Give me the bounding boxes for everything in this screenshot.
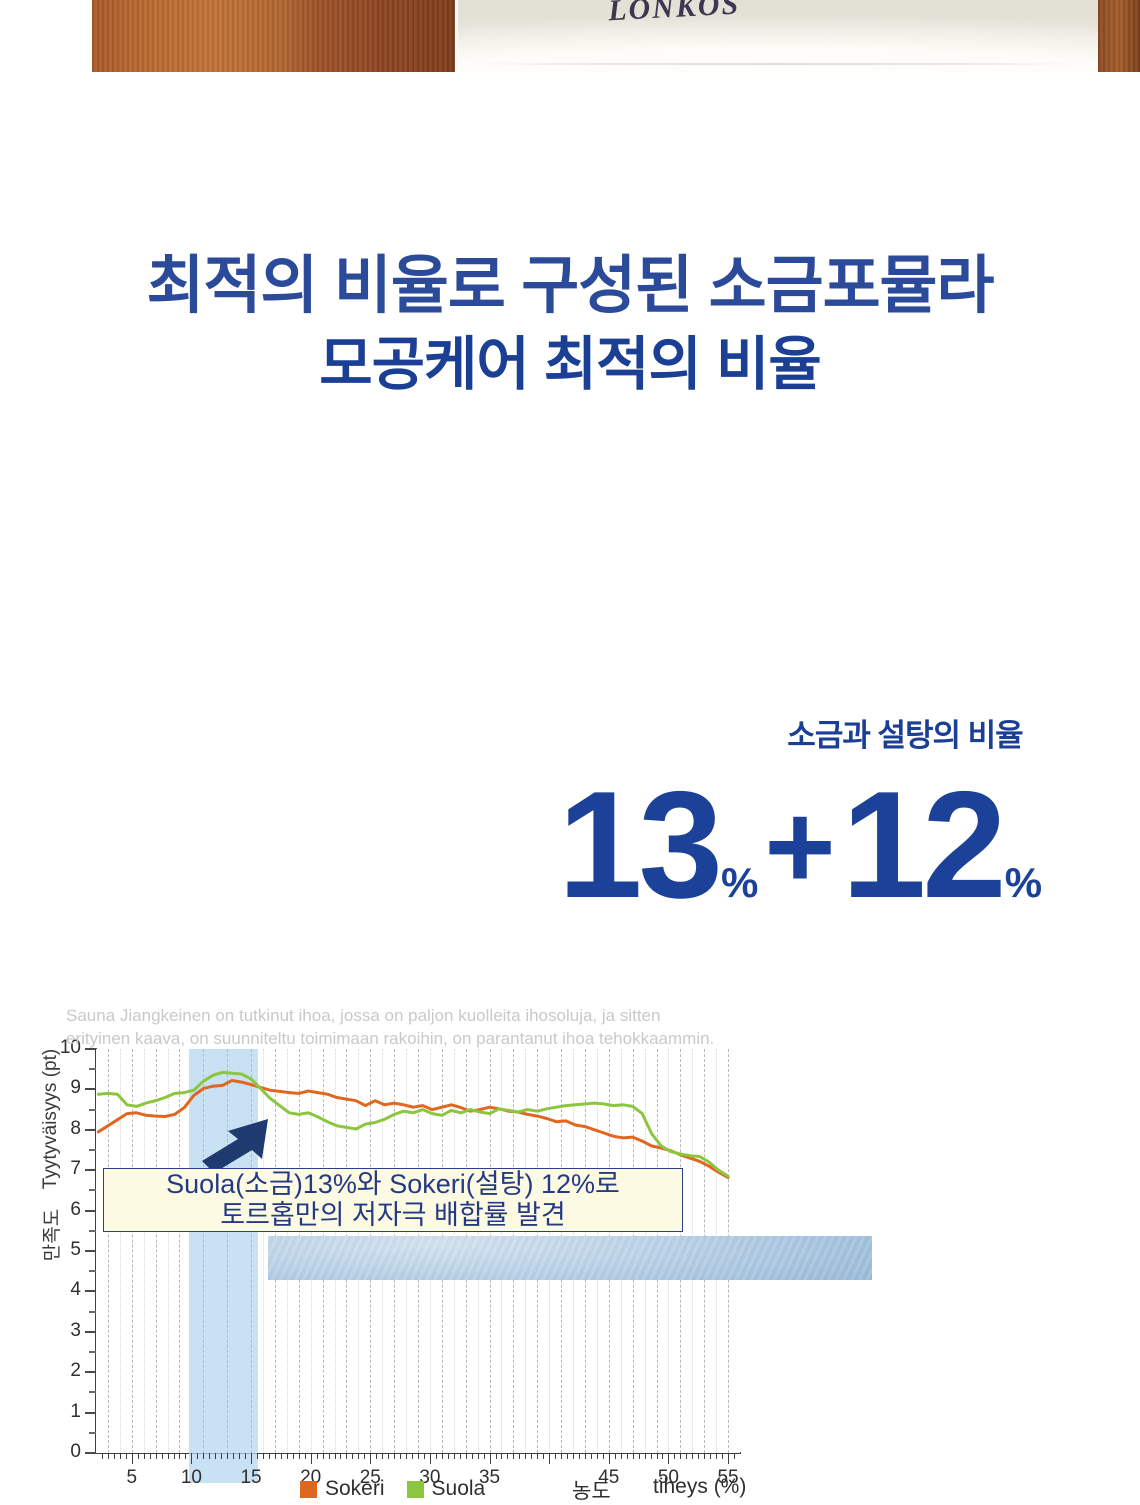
legend-swatch-icon xyxy=(407,1481,424,1498)
x-axis-minor-tick xyxy=(525,1453,526,1459)
x-axis-minor-tick xyxy=(394,1453,395,1459)
x-axis-minor-tick xyxy=(615,1453,616,1459)
x-axis-minor-tick xyxy=(126,1453,127,1459)
x-axis-minor-tick xyxy=(603,1453,604,1459)
x-axis-minor-tick xyxy=(633,1453,634,1459)
jar-logo-text: LONKOS xyxy=(607,0,928,28)
x-axis-minor-tick xyxy=(239,1453,240,1459)
x-axis-minor-tick xyxy=(323,1453,324,1459)
x-axis-minor-tick xyxy=(263,1453,264,1459)
x-axis-tick-label: 10 xyxy=(169,1467,213,1489)
x-axis-minor-tick xyxy=(144,1453,145,1459)
x-axis-minor-tick xyxy=(233,1453,234,1459)
x-axis-minor-tick xyxy=(406,1453,407,1459)
footnote-text: Sauna Jiangkeinen on tutkinut ihoa, joss… xyxy=(66,1004,726,1050)
x-axis-minor-tick xyxy=(317,1453,318,1459)
x-axis-minor-tick xyxy=(734,1453,735,1459)
x-axis-minor-tick xyxy=(138,1453,139,1459)
y-axis-tick-label: 2 xyxy=(41,1360,81,1382)
y-axis-tick-label: 1 xyxy=(41,1401,81,1423)
y-axis-tick-label: 9 xyxy=(41,1077,81,1099)
x-axis-minor-tick xyxy=(716,1453,717,1459)
x-axis-minor-tick xyxy=(209,1453,210,1459)
x-axis-minor-tick xyxy=(120,1453,121,1459)
x-axis-minor-tick xyxy=(662,1453,663,1459)
x-axis-minor-tick xyxy=(382,1453,383,1459)
x-axis-minor-tick xyxy=(597,1453,598,1459)
x-axis-minor-tick xyxy=(543,1453,544,1459)
x-axis-minor-tick xyxy=(174,1453,175,1459)
x-axis-minor-tick xyxy=(585,1453,586,1459)
x-axis-minor-tick xyxy=(245,1453,246,1459)
x-axis-minor-tick xyxy=(573,1453,574,1459)
wood-texture-right xyxy=(1098,0,1140,72)
x-axis-minor-tick xyxy=(370,1453,371,1464)
y-axis-tick-label: 5 xyxy=(41,1239,81,1261)
callout-box: Suola(소금)13%와 Sokeri(설탕) 12%로 토르홉만의 저자극 … xyxy=(103,1168,683,1232)
y-axis-tick-label: 6 xyxy=(41,1199,81,1221)
x-axis-minor-tick xyxy=(102,1453,103,1459)
x-axis-minor-tick xyxy=(305,1453,306,1459)
x-axis-minor-tick xyxy=(591,1453,592,1459)
x-axis-minor-tick xyxy=(651,1453,652,1459)
x-axis-minor-tick xyxy=(269,1453,270,1459)
legend-label: Suola xyxy=(432,1477,486,1501)
salt-percent-value: 13 xyxy=(558,778,719,912)
x-axis-minor-tick xyxy=(657,1453,658,1459)
x-axis-minor-tick xyxy=(490,1453,491,1464)
x-axis-minor-tick xyxy=(388,1453,389,1459)
x-axis-minor-tick xyxy=(555,1453,556,1459)
bottom-fabric-image xyxy=(268,1236,872,1280)
x-axis-minor-tick xyxy=(567,1453,568,1459)
series-line-sokeri xyxy=(98,1081,728,1178)
x-axis-minor-tick xyxy=(162,1453,163,1459)
x-axis-minor-tick xyxy=(227,1453,228,1459)
x-axis-minor-tick xyxy=(621,1453,622,1459)
sugar-percent-value: 12 xyxy=(842,778,1003,912)
x-axis-minor-tick xyxy=(704,1453,705,1459)
legend-item-suola[interactable]: Suola xyxy=(407,1477,486,1501)
x-axis-minor-tick xyxy=(531,1453,532,1459)
x-axis-minor-tick xyxy=(472,1453,473,1459)
x-axis-minor-tick xyxy=(627,1453,628,1459)
x-axis-minor-tick xyxy=(412,1453,413,1459)
x-axis-minor-tick xyxy=(275,1453,276,1459)
x-axis-minor-tick xyxy=(221,1453,222,1459)
x-axis-minor-tick xyxy=(698,1453,699,1459)
x-axis-minor-tick xyxy=(364,1453,365,1459)
top-photo-strip: LONKOS xyxy=(0,0,1140,72)
x-axis-minor-tick xyxy=(674,1453,675,1459)
x-axis-minor-tick xyxy=(507,1453,508,1459)
x-axis-minor-tick xyxy=(203,1453,204,1459)
x-axis-minor-tick xyxy=(400,1453,401,1459)
x-axis-minor-tick xyxy=(358,1453,359,1459)
x-axis-minor-tick xyxy=(340,1453,341,1459)
x-axis-minor-tick xyxy=(156,1453,157,1459)
page-title: 최적의 비율로 구성된 소금포뮬라 모공케어 최적의 비율 xyxy=(0,248,1140,400)
x-axis-tick-label: 5 xyxy=(110,1467,154,1489)
x-axis-minor-tick xyxy=(150,1453,151,1459)
x-axis-minor-tick xyxy=(478,1453,479,1459)
x-axis-minor-tick xyxy=(430,1453,431,1464)
x-axis-minor-tick xyxy=(448,1453,449,1459)
headline-line-2: 모공케어 최적의 비율 xyxy=(0,330,1140,400)
x-axis-minor-tick xyxy=(299,1453,300,1459)
x-axis-title: tiheys (%) xyxy=(653,1475,746,1499)
x-axis-minor-tick xyxy=(168,1453,169,1459)
headline-line-1: 최적의 비율로 구성된 소금포뮬라 xyxy=(0,248,1140,324)
x-axis-minor-tick xyxy=(668,1453,669,1464)
x-axis-minor-tick xyxy=(287,1453,288,1459)
callout-line-2: 토르홉만의 저자극 배합률 발견 xyxy=(220,1200,565,1231)
ratio-title: 소금과 설탕의 비율 xyxy=(760,710,1050,755)
x-axis-minor-tick xyxy=(418,1453,419,1459)
chart-legend: SokeriSuola xyxy=(300,1477,485,1501)
salt-percent-unit: % xyxy=(721,854,758,912)
x-axis-minor-tick xyxy=(513,1453,514,1459)
wood-texture-left xyxy=(92,0,455,72)
x-axis-title-korean: 농도 xyxy=(572,1475,611,1505)
x-axis-minor-tick xyxy=(466,1453,467,1459)
x-axis-minor-tick xyxy=(197,1453,198,1459)
x-axis-minor-tick xyxy=(579,1453,580,1459)
x-axis-minor-tick xyxy=(251,1453,252,1464)
x-axis-minor-tick xyxy=(352,1453,353,1459)
legend-item-sokeri[interactable]: Sokeri xyxy=(300,1477,385,1501)
x-axis-minor-tick xyxy=(484,1453,485,1459)
x-axis-minor-tick xyxy=(728,1453,729,1464)
x-axis-minor-tick xyxy=(436,1453,437,1459)
x-axis-minor-tick xyxy=(179,1453,180,1459)
product-jar-image: LONKOS xyxy=(458,0,1098,72)
x-axis-minor-tick xyxy=(311,1453,312,1464)
x-axis-minor-tick xyxy=(108,1453,109,1459)
x-axis-minor-tick xyxy=(609,1453,610,1464)
x-axis-minor-tick xyxy=(376,1453,377,1459)
x-axis-minor-tick xyxy=(722,1453,723,1459)
x-axis-minor-tick xyxy=(424,1453,425,1459)
x-axis-minor-tick xyxy=(561,1453,562,1459)
y-axis-tick-label: 7 xyxy=(41,1158,81,1180)
series-line-suola xyxy=(98,1072,728,1176)
x-axis-minor-tick xyxy=(215,1453,216,1459)
x-axis-minor-tick xyxy=(537,1453,538,1459)
sugar-percent-unit: % xyxy=(1005,854,1042,912)
y-axis-tick-label: 0 xyxy=(41,1441,81,1463)
x-axis-minor-tick xyxy=(293,1453,294,1459)
x-axis-minor-tick xyxy=(329,1453,330,1459)
callout-line-1: Suola(소금)13%와 Sokeri(설탕) 12%로 xyxy=(166,1169,620,1200)
x-axis-minor-tick xyxy=(710,1453,711,1459)
legend-swatch-icon xyxy=(300,1481,317,1498)
x-axis-minor-tick xyxy=(519,1453,520,1459)
x-axis-minor-tick xyxy=(185,1453,186,1459)
x-axis-minor-tick xyxy=(114,1453,115,1459)
x-axis-tick-label: 15 xyxy=(229,1467,273,1489)
x-axis-minor-tick xyxy=(454,1453,455,1459)
x-axis-minor-tick xyxy=(496,1453,497,1459)
x-axis-minor-tick xyxy=(191,1453,192,1464)
x-axis-minor-tick xyxy=(460,1453,461,1459)
x-axis-minor-tick xyxy=(692,1453,693,1459)
legend-label: Sokeri xyxy=(325,1477,385,1501)
x-axis-minor-tick xyxy=(281,1453,282,1459)
x-axis-minor-tick xyxy=(132,1453,133,1464)
x-axis-minor-tick xyxy=(346,1453,347,1459)
x-axis-minor-tick xyxy=(501,1453,502,1459)
x-axis-minor-tick xyxy=(257,1453,258,1459)
y-axis-tick-label: 8 xyxy=(41,1118,81,1140)
x-axis-minor-tick xyxy=(639,1453,640,1459)
plus-operator: + xyxy=(764,780,835,912)
x-axis-minor-tick xyxy=(549,1453,550,1464)
x-axis-minor-tick xyxy=(645,1453,646,1459)
x-axis-minor-tick xyxy=(680,1453,681,1459)
x-axis-minor-tick xyxy=(335,1453,336,1459)
x-axis-minor-tick xyxy=(442,1453,443,1459)
x-axis-minor-tick xyxy=(686,1453,687,1459)
y-axis-tick-label: 3 xyxy=(41,1320,81,1342)
ratio-value-group: 13 % + 12 % xyxy=(520,752,1080,912)
y-axis-tick-label: 4 xyxy=(41,1279,81,1301)
